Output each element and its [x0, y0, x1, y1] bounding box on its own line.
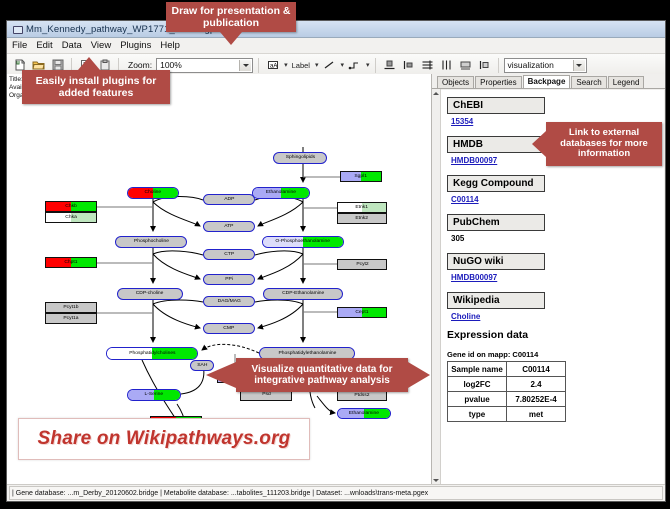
zoom-value: 100% — [160, 60, 182, 70]
table-row: typemet — [448, 407, 566, 422]
callout-link-to-external-databases: Link to external databases for more info… — [546, 122, 662, 166]
node-label: Etnk2 — [356, 216, 369, 221]
node-label: Ethanolamine — [266, 191, 296, 196]
gene-node-sgpl1[interactable]: Sgpl1 — [340, 171, 382, 182]
tab-objects[interactable]: Objects — [437, 76, 474, 88]
node-label: Psd — [262, 393, 271, 398]
metabolite-node-adp[interactable]: ADP — [203, 194, 255, 205]
gene-node-pcyt1b[interactable]: Pcyt1b — [45, 302, 97, 313]
table-cell-key: type — [448, 407, 507, 422]
table-cell-value: met — [507, 407, 566, 422]
tab-backpage[interactable]: Backpage — [523, 75, 571, 88]
status-bar: | Gene database: ...m_Derby_20120602.bri… — [7, 484, 665, 501]
menu-bar: File Edit Data View Plugins Help — [7, 38, 665, 54]
gene-node-cept1[interactable]: Cept1 — [337, 307, 387, 318]
title-bar: Mm_Kennedy_pathway_WP1771_45176.gpml — [7, 21, 665, 38]
database-header: Wikipedia — [447, 292, 545, 309]
toolbar-separator — [258, 58, 259, 73]
table-cell-value: 7.80252E-4 — [507, 392, 566, 407]
sidebar-tabs: Objects Properties Backpage Search Legen… — [432, 74, 665, 89]
node-label: PPi — [225, 277, 233, 282]
align-left-icon[interactable] — [400, 57, 417, 74]
metabolite-node-ppi[interactable]: PPi — [203, 274, 255, 285]
text-box-icon[interactable]: aA — [264, 57, 281, 74]
gene-node-pcyt1a[interactable]: Pcyt1a — [45, 313, 97, 324]
node-label: Phosphatidylcholines — [129, 351, 175, 356]
node-label: Chpt1 — [64, 260, 77, 265]
share-on-wikipathways-text: Share on Wikipathways.org — [38, 428, 291, 450]
metabolite-node-ethanolamine[interactable]: Ethanolamine — [252, 187, 310, 199]
callout-arrow-down-draw — [220, 32, 242, 45]
callout-visualize-quantitative-data: Visualize quantitative data for integrat… — [236, 358, 408, 392]
node-label: Ethanolamine — [349, 411, 379, 416]
chevron-down-icon[interactable]: ▾ — [284, 61, 288, 69]
database-link[interactable]: HMDB00097 — [451, 273, 658, 282]
callout-arrow-left-links — [532, 131, 546, 157]
chevron-down-icon[interactable] — [573, 60, 585, 71]
gene-node-etnk2[interactable]: Etnk2 — [337, 213, 387, 224]
metabolite-node-cmp[interactable]: CMP — [203, 323, 255, 334]
scroll-down-icon[interactable] — [432, 476, 440, 484]
screenshot-root: Mm_Kennedy_pathway_WP1771_45176.gpml Fil… — [0, 0, 670, 509]
order-icon[interactable] — [476, 57, 493, 74]
table-cell-key: log2FC — [448, 377, 507, 392]
node-label: Choline — [145, 191, 162, 196]
node-label: Sphingolipids — [285, 156, 314, 161]
visualization-value: visualization — [508, 60, 554, 70]
chevron-down-icon[interactable]: ▾ — [315, 61, 319, 69]
distribute-horizontal-icon[interactable] — [438, 57, 455, 74]
callout-arrow-right-visualize — [408, 362, 430, 388]
menu-item-help[interactable]: Help — [160, 40, 180, 51]
callout-share-box: Share on Wikipathways.org — [18, 418, 310, 460]
node-label: CTP — [224, 252, 234, 257]
node-label: CDP-choline — [136, 292, 164, 297]
menu-item-edit[interactable]: Edit — [36, 40, 52, 51]
node-label: Chkb — [65, 204, 77, 209]
metabolite-node-l-serine[interactable]: L-Serine — [127, 389, 181, 401]
align-bottom-icon[interactable] — [381, 57, 398, 74]
callout-arrow-up-plugins — [78, 57, 100, 70]
node-label: Pcyt1b — [63, 305, 78, 310]
database-header: HMDB — [447, 136, 545, 153]
chevron-down-icon[interactable]: ▾ — [340, 61, 344, 69]
arrow-connector-icon[interactable] — [346, 57, 363, 74]
toolbar-separator — [375, 58, 376, 73]
gene-node-pcyt2[interactable]: Pcyt2 — [337, 259, 387, 270]
group-icon[interactable] — [457, 57, 474, 74]
gene-node-chpt1[interactable]: Chpt1 — [45, 257, 97, 268]
gene-id-label: Gene id on mapp: C00114 — [447, 350, 658, 359]
scroll-up-icon[interactable] — [432, 89, 440, 97]
gene-node-etnk1[interactable]: Etnk1 — [337, 202, 387, 213]
node-label: DAG/MAG — [217, 299, 240, 304]
node-label: ADP — [224, 197, 234, 202]
tab-properties[interactable]: Properties — [475, 76, 521, 88]
database-value: 305 — [451, 234, 658, 243]
menu-item-view[interactable]: View — [91, 40, 111, 51]
database-link[interactable]: C00114 — [451, 195, 658, 204]
zoom-label: Zoom: — [128, 60, 152, 70]
node-label: Ptdss2 — [354, 393, 369, 398]
node-label: Phosphatidylethanolamine — [278, 351, 336, 356]
metabolite-node-dag-mag[interactable]: DAG/MAG — [203, 296, 255, 307]
expression-data-heading: Expression data — [447, 329, 658, 341]
node-label: Sgpl1 — [355, 174, 368, 179]
metabolite-node-ethanolamine[interactable]: Ethanolamine — [337, 408, 391, 419]
tab-search[interactable]: Search — [571, 76, 606, 88]
database-header: PubChem — [447, 214, 545, 231]
metabolite-node-sphingolipids[interactable]: Sphingolipids — [273, 152, 327, 164]
node-label: CMP — [224, 326, 235, 331]
chevron-down-icon[interactable] — [239, 60, 251, 71]
chevron-down-icon[interactable]: ▾ — [366, 61, 370, 69]
sidebar-scrollbar[interactable] — [432, 89, 441, 484]
pathvisio-app-icon — [12, 24, 22, 34]
metabolite-node-atp[interactable]: ATP — [203, 221, 255, 232]
zoom-combobox[interactable]: 100% — [156, 58, 253, 73]
table-cell-value: C00114 — [507, 362, 566, 377]
metabolite-node-o-phosphoethanolamine[interactable]: O-Phosphoethanolamine — [262, 236, 344, 248]
table-cell-key: Sample name — [448, 362, 507, 377]
menu-item-file[interactable]: File — [12, 40, 27, 51]
expression-table: Sample nameC00114log2FC2.4pvalue7.80252E… — [447, 361, 566, 422]
database-header: ChEBI — [447, 97, 545, 114]
line-icon[interactable] — [320, 57, 337, 74]
table-cell-key: pvalue — [448, 392, 507, 407]
node-label: L-Serine — [145, 393, 164, 398]
menu-item-plugins[interactable]: Plugins — [120, 40, 151, 51]
metabolite-node-cdp-choline[interactable]: CDP-choline — [117, 288, 183, 300]
status-text: | Gene database: ...m_Derby_20120602.bri… — [9, 486, 663, 500]
label-button[interactable]: Label — [290, 61, 312, 70]
node-label: O-Phosphoethanolamine — [276, 240, 331, 245]
metabolite-node-phosphocholine[interactable]: Phosphocholine — [115, 236, 187, 248]
callout-easily-install-plugins: Easily install plugins for added feature… — [22, 70, 170, 104]
table-row: log2FC2.4 — [448, 377, 566, 392]
table-row: pvalue7.80252E-4 — [448, 392, 566, 407]
menu-item-data[interactable]: Data — [62, 40, 82, 51]
node-label: Chka — [65, 215, 77, 220]
database-link[interactable]: Choline — [451, 312, 658, 321]
tab-legend[interactable]: Legend — [608, 76, 645, 88]
database-header: Kegg Compound — [447, 175, 545, 192]
database-header: NuGO wiki — [447, 253, 545, 270]
metabolite-node-cdp-ethanolamine[interactable]: CDP-Ethanolamine — [263, 288, 343, 300]
toolbar-separator — [498, 58, 499, 73]
node-label: ATP — [224, 224, 233, 229]
table-cell-value: 2.4 — [507, 377, 566, 392]
metabolite-node-ctp[interactable]: CTP — [203, 249, 255, 260]
gene-node-chka[interactable]: Chka — [45, 212, 97, 223]
node-label: Etnk1 — [356, 205, 369, 210]
callout-draw-for-presentation: Draw for presentation & publication — [166, 2, 296, 32]
svg-text:aA: aA — [270, 64, 277, 70]
visualization-combobox[interactable]: visualization — [504, 58, 587, 73]
node-label: Phosphocholine — [133, 240, 168, 245]
callout-arrow-left-visualize — [206, 362, 236, 388]
gene-node-chkb[interactable]: Chkb — [45, 201, 97, 212]
node-label: Cept1 — [355, 310, 368, 315]
metabolite-node-phosphatidylcholines[interactable]: Phosphatidylcholines — [106, 347, 198, 360]
node-label: Pcyt2 — [356, 262, 368, 267]
distribute-vertical-icon[interactable] — [419, 57, 436, 74]
node-label: Pcyt1a — [63, 316, 78, 321]
metabolite-node-choline[interactable]: Choline — [127, 187, 179, 199]
node-label: CDP-Ethanolamine — [282, 292, 324, 297]
table-row: Sample nameC00114 — [448, 362, 566, 377]
